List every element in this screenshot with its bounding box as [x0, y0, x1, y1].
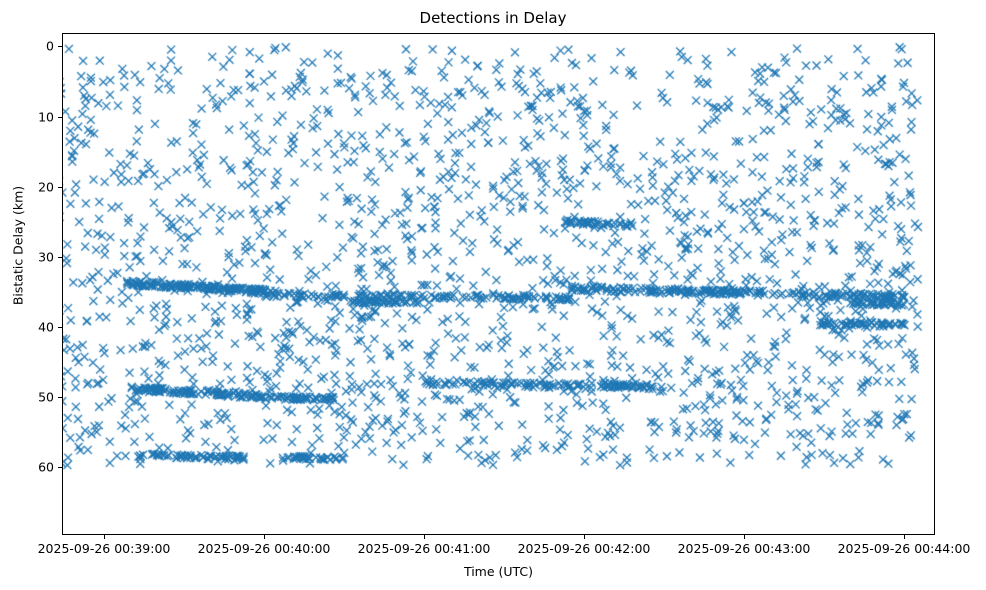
- y-tick-label: 50: [14, 390, 54, 405]
- x-tick-mark: [264, 535, 265, 539]
- x-tick-mark: [424, 535, 425, 539]
- page-title: Detections in Delay: [0, 9, 986, 27]
- y-tick-mark: [58, 187, 62, 188]
- x-tick-label: 2025-09-26 00:44:00: [794, 541, 986, 556]
- y-tick-mark: [58, 397, 62, 398]
- y-tick-label: 0: [14, 39, 54, 54]
- y-tick-label: 60: [14, 460, 54, 475]
- y-tick-mark: [58, 117, 62, 118]
- scatter-plot-canvas: [63, 34, 935, 535]
- x-tick-mark: [904, 535, 905, 539]
- x-tick-mark: [744, 535, 745, 539]
- y-axis-label: Bistatic Delay (km): [11, 126, 26, 366]
- y-tick-mark: [58, 257, 62, 258]
- plot-axes: [62, 33, 935, 535]
- x-tick-mark: [584, 535, 585, 539]
- figure-canvas: Detections in Delay 0102030405060 2025-0…: [0, 0, 986, 590]
- y-tick-mark: [58, 467, 62, 468]
- y-tick-label: 10: [14, 110, 54, 125]
- x-tick-mark: [104, 535, 105, 539]
- y-tick-mark: [58, 327, 62, 328]
- y-tick-mark: [58, 46, 62, 47]
- x-axis-label: Time (UTC): [62, 564, 935, 579]
